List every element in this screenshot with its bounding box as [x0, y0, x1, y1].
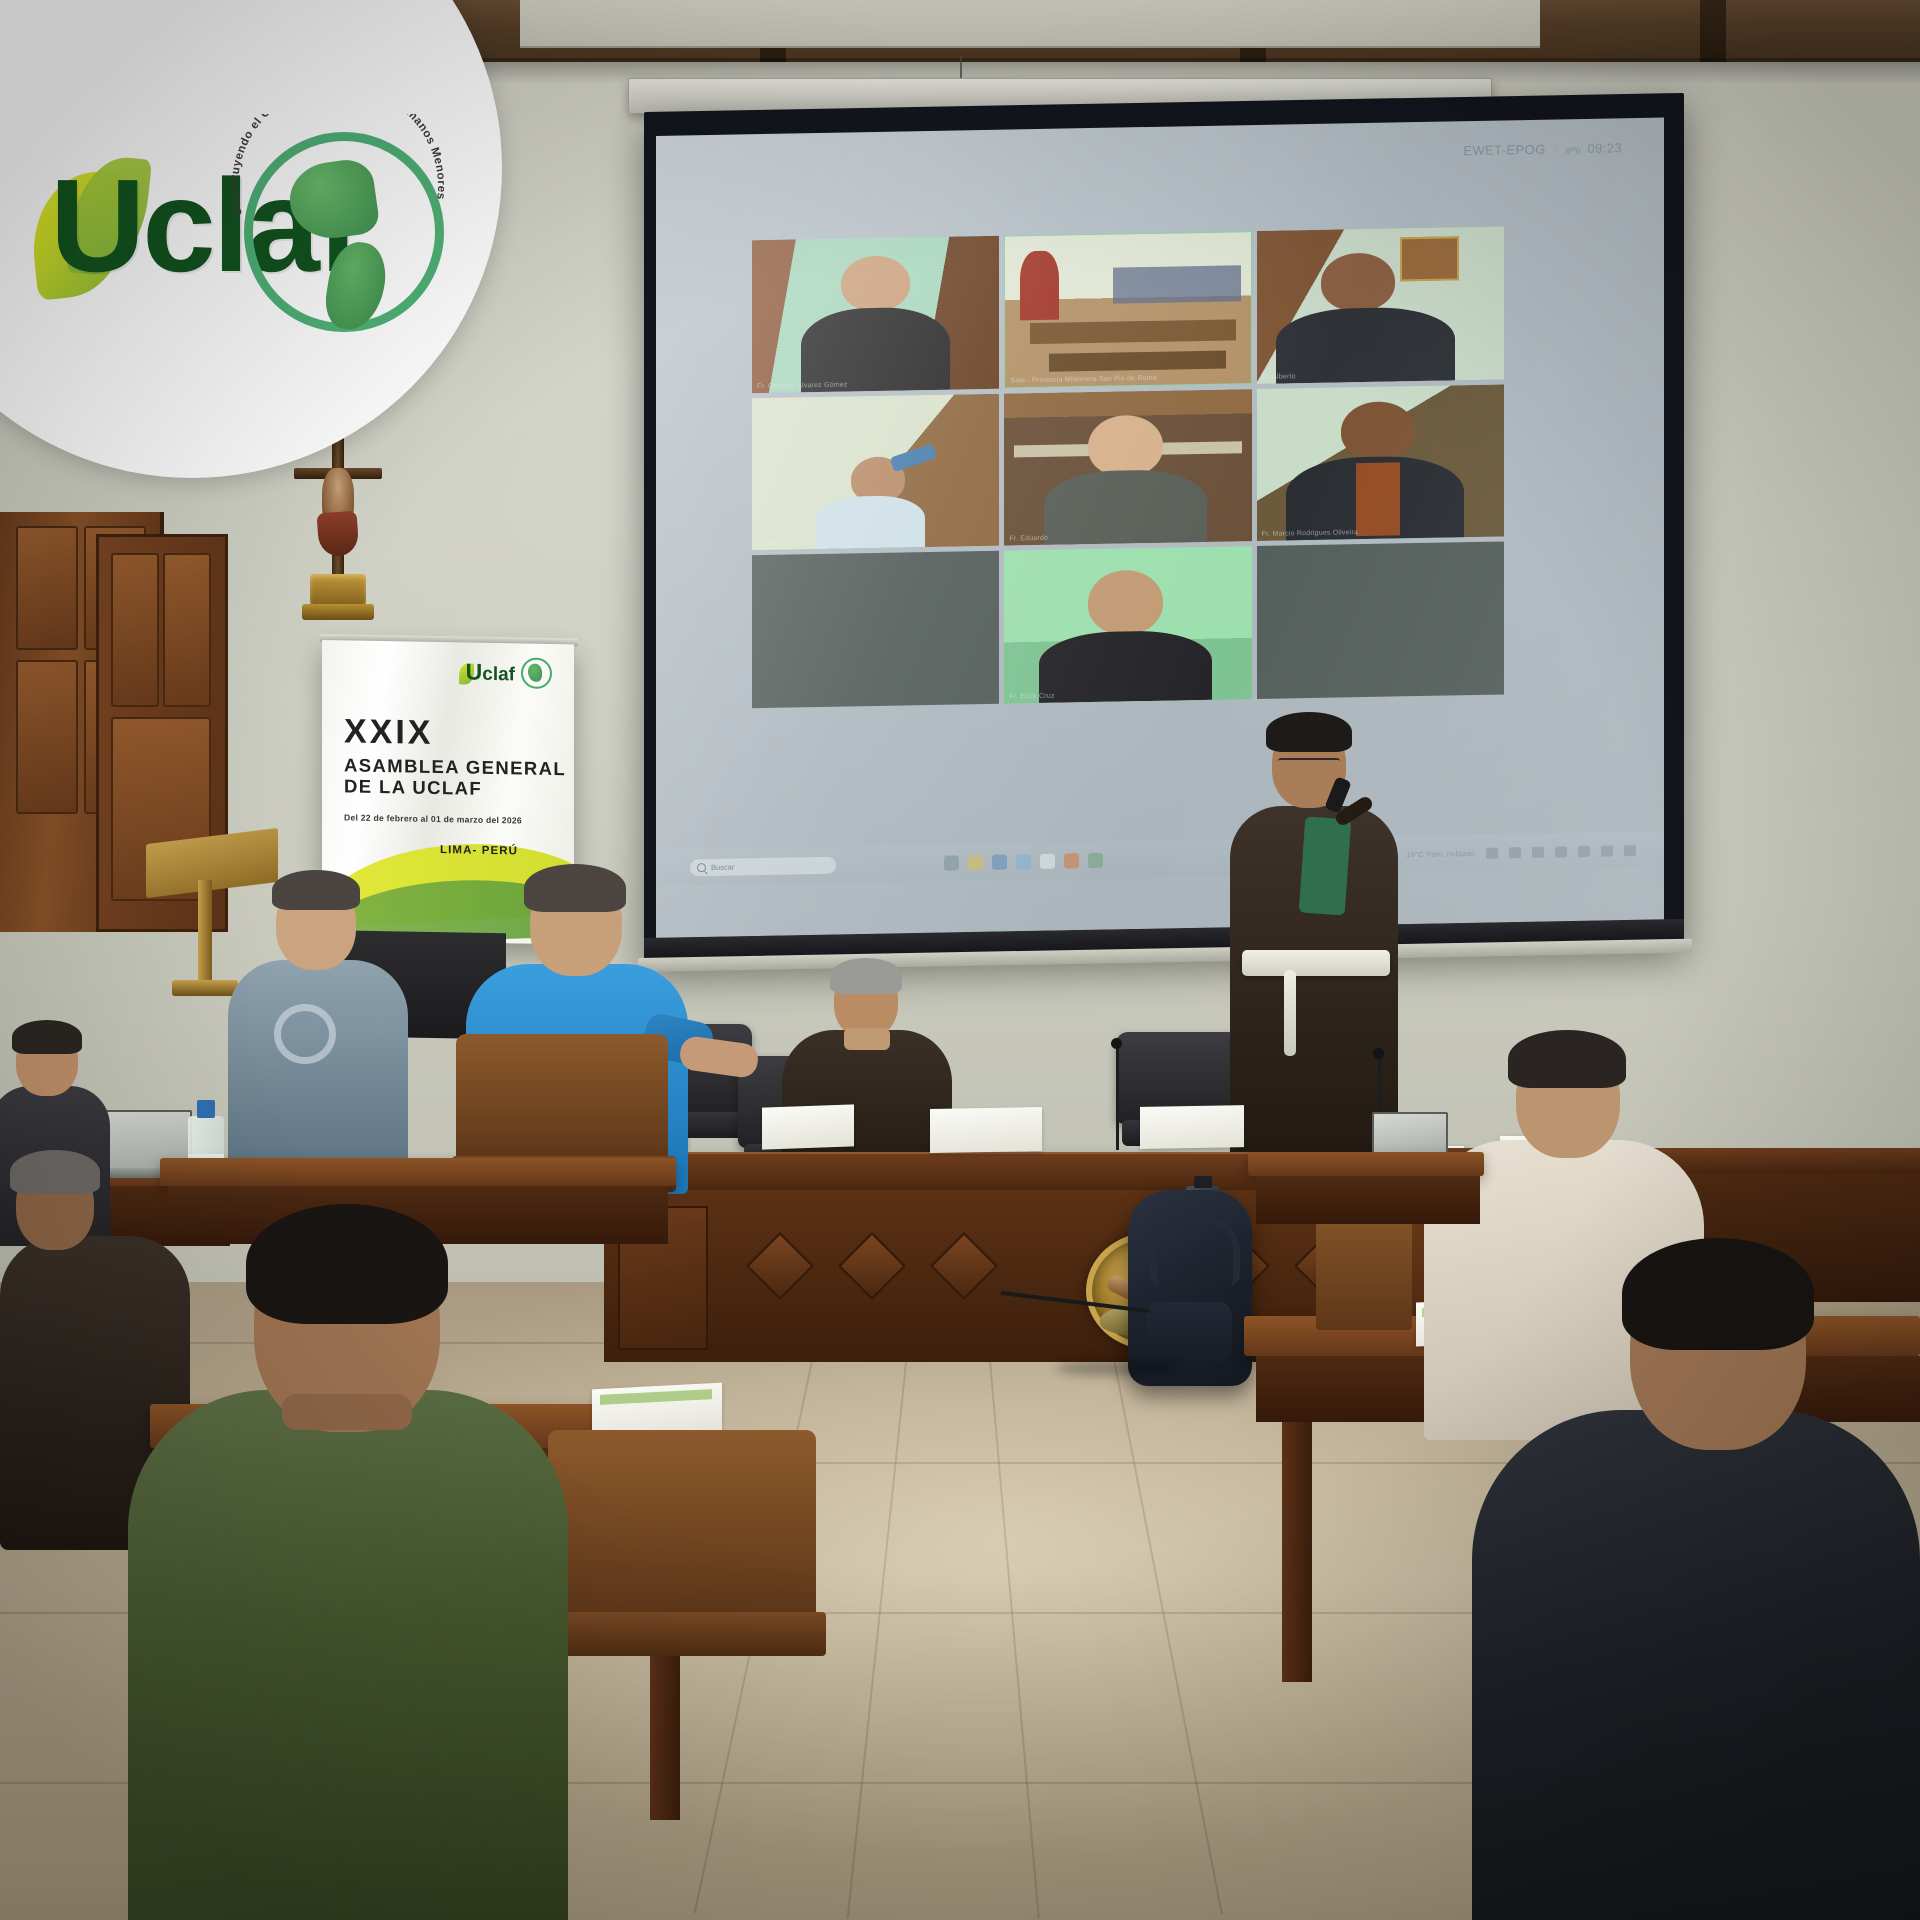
ceiling-panel	[520, 0, 1540, 48]
green-lanyard	[1299, 817, 1352, 916]
cabinet-panel	[163, 553, 211, 707]
banner-dates: Del 22 de febrero al 01 de marzo del 202…	[344, 812, 522, 825]
door-panel	[16, 526, 78, 650]
screen-glare	[656, 118, 1664, 938]
banner-title-block: XXIX ASAMBLEA GENERAL DE LA UCLAF	[344, 714, 566, 800]
banner-logo-rest: claf	[482, 663, 515, 685]
friar-cord-belt	[1242, 950, 1390, 976]
banner-line-2: DE LA UCLAF	[344, 776, 566, 801]
banner-logo-u: U	[466, 658, 483, 684]
svg-text:Construyendo el Camino Sinodal: Construyendo el Camino Sinodal como Herm…	[232, 114, 444, 217]
photo-scene: EWET-EPOG · 09:23 Fr. Gonzalo Alvarez Gó…	[0, 0, 1920, 1920]
audience-person	[228, 874, 408, 1164]
banner-roman-numeral: XXIX	[344, 714, 566, 752]
uclaf-logo: Uclaf Construyendo el Camino Sinodal com…	[32, 150, 422, 340]
foreground-person-green	[128, 1218, 568, 1920]
banner-city: LIMA- PERÚ	[440, 844, 518, 857]
backpack-shadow	[1056, 1360, 1176, 1376]
logo-circular-text: Construyendo el Camino Sinodal como Herm…	[232, 114, 444, 326]
crucifix-corbel	[310, 574, 366, 608]
corpus-drape	[317, 511, 360, 558]
logo-wordmark-u: U	[50, 152, 142, 299]
door-panel	[16, 660, 78, 814]
foreground-person-right	[1472, 1250, 1920, 1920]
table-nameplate	[930, 1107, 1042, 1153]
cabinet-panel	[111, 553, 159, 707]
ceiling-beam	[1700, 0, 1726, 62]
eyeglasses	[1278, 758, 1340, 770]
backpack-strap	[1150, 1214, 1240, 1285]
lectern-stem	[198, 880, 212, 990]
neck	[282, 1394, 412, 1430]
banner-logo: Uclaf	[466, 657, 552, 690]
shirt-graphic	[274, 1004, 336, 1064]
crucifix	[288, 428, 388, 628]
backpack-pocket	[1146, 1302, 1232, 1364]
table-nameplate	[1140, 1105, 1244, 1149]
backpack	[1128, 1190, 1252, 1386]
table-nameplate	[762, 1104, 854, 1149]
friar-cord-knot	[1284, 970, 1296, 1056]
banner-globe-icon	[521, 657, 552, 689]
crucifix-bracket	[302, 604, 374, 620]
projection-surface[interactable]: EWET-EPOG · 09:23 Fr. Gonzalo Alvarez Gó…	[656, 118, 1664, 938]
